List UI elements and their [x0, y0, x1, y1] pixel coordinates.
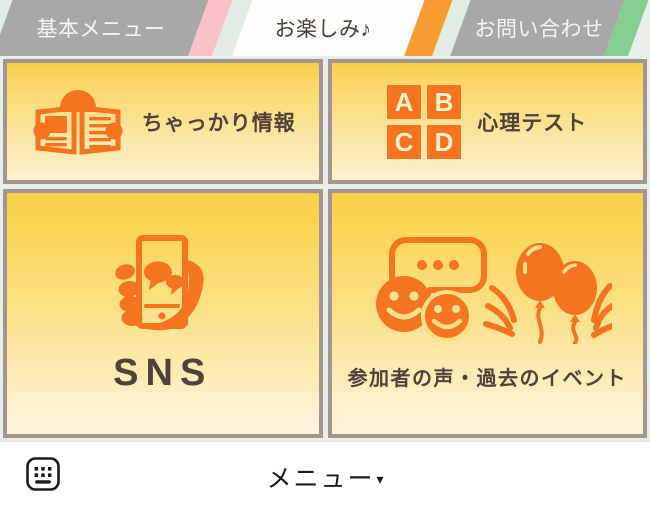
menu-toggle-button[interactable]: メニュー ▾ [0, 459, 650, 495]
card-voices-past-events-label: 参加者の声・過去のイベント [348, 362, 628, 391]
tab-contact[interactable]: お問い合わせ [444, 0, 634, 56]
smileys-and-balloons-icon [362, 236, 612, 344]
tab-basic-menu[interactable]: 基本メニュー [6, 0, 196, 56]
svg-text:A: A [395, 87, 414, 117]
tab-bar: 基本メニュー お楽しみ♪ お問い合わせ [0, 0, 650, 56]
svg-text:B: B [435, 87, 454, 117]
card-grid: ちゃっかり情報 A B C D [0, 56, 650, 441]
bottom-bar: メニュー ▾ [0, 441, 650, 511]
svg-text:C: C [395, 127, 414, 157]
tab-basic-menu-label: 基本メニュー [37, 13, 166, 43]
abcd-grid-icon: A B C D [387, 85, 461, 159]
tab-contact-label: お問い合わせ [475, 13, 604, 43]
menu-toggle-label: メニュー [266, 459, 374, 495]
card-psychology-test-label: 心理テスト [477, 107, 587, 137]
card-psychology-test[interactable]: A B C D 心理テスト [328, 59, 648, 184]
svg-text:D: D [435, 127, 454, 157]
tab-fun[interactable]: お楽しみ♪ [228, 0, 418, 56]
tab-fun-label: お楽しみ♪ [275, 13, 372, 43]
richmenu-screen: 基本メニュー お楽しみ♪ お問い合わせ [0, 0, 650, 511]
card-voices-past-events[interactable]: 参加者の声・過去のイベント [328, 189, 648, 438]
hand-holding-phone-chat-icon [113, 232, 213, 336]
card-sns-label: SNS [113, 352, 212, 395]
chevron-down-icon: ▾ [376, 471, 383, 488]
card-sns[interactable]: SNS [3, 189, 323, 438]
card-chakkari-info[interactable]: ちゃっかり情報 [3, 59, 323, 184]
newspaper-reader-icon [30, 86, 126, 158]
card-chakkari-info-label: ちゃっかり情報 [142, 107, 296, 137]
